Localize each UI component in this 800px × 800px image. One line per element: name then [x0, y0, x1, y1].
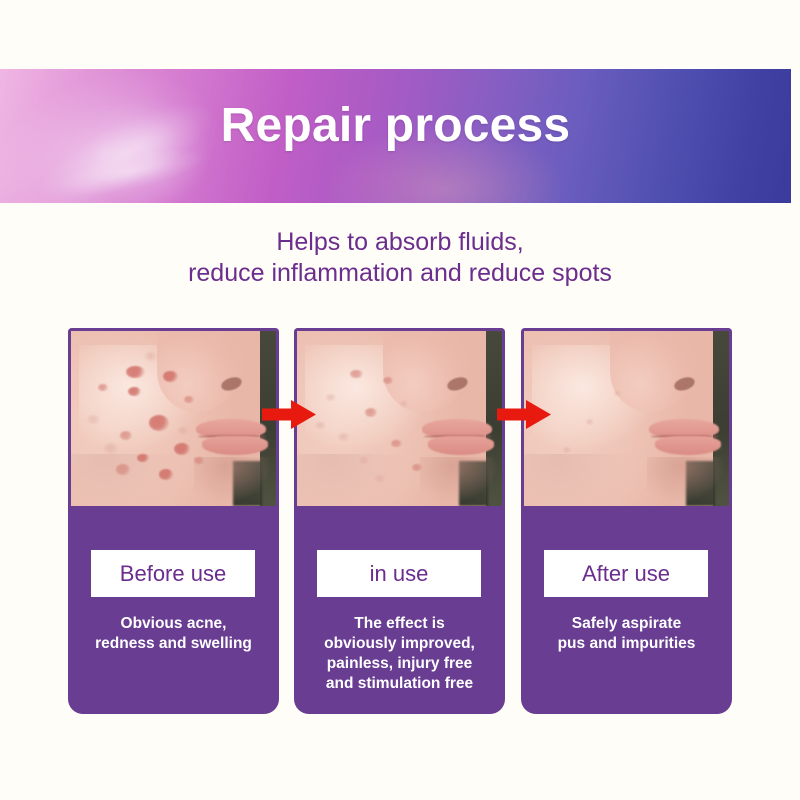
step-label: After use: [582, 563, 670, 585]
acne-spot: [391, 440, 401, 447]
header-banner: Repair process: [0, 69, 791, 203]
acne-spot: [614, 391, 621, 396]
step-caption-line: Obvious acne,: [74, 614, 273, 634]
process-step-card: in use The effect is obviously improved,…: [294, 328, 505, 714]
step-label-box: in use: [317, 550, 481, 597]
process-step-card: After use Safely aspirate pus and impuri…: [521, 328, 732, 714]
acne-spot: [87, 415, 99, 424]
step-caption-line: and stimulation free: [300, 674, 499, 694]
acne-spot: [149, 415, 170, 431]
acne-spot: [563, 447, 571, 453]
acne-spot: [412, 464, 422, 471]
subtitle-line-2: reduce inflammation and reduce spots: [0, 258, 800, 289]
subtitle-line-1: Helps to absorb fluids,: [0, 227, 800, 258]
acne-spot: [159, 469, 173, 480]
after-photo: [524, 331, 729, 506]
step-caption-line: redness and swelling: [74, 634, 273, 654]
acne-spot: [128, 387, 140, 396]
page-title: Repair process: [0, 98, 791, 153]
process-steps: Before use Obvious acne, redness and swe…: [68, 328, 732, 716]
acne-spot: [315, 422, 325, 429]
in-use-photo-frame: [294, 328, 505, 509]
acne-spot: [126, 366, 144, 378]
acne-spot: [359, 457, 369, 464]
step-label: Before use: [120, 563, 226, 585]
process-step-card: Before use Obvious acne, redness and swe…: [68, 328, 279, 714]
step-caption-line: The effect is: [300, 614, 499, 634]
step-caption: Obvious acne, redness and swelling: [74, 614, 273, 654]
acne-spot: [120, 431, 132, 440]
acne-spot: [174, 443, 190, 455]
step-label-box: After use: [544, 550, 708, 597]
acne-spot: [400, 401, 408, 407]
in-use-photo: [297, 331, 502, 506]
arrow-right-icon: [262, 400, 316, 429]
step-caption-line: pus and impurities: [527, 634, 726, 654]
acne-spot: [350, 370, 362, 379]
step-label-box: Before use: [91, 550, 255, 597]
step-caption-line: Safely aspirate: [527, 614, 726, 634]
acne-spot: [184, 396, 194, 403]
step-caption: The effect is obviously improved, painle…: [300, 614, 499, 694]
step-caption: Safely aspirate pus and impurities: [527, 614, 726, 654]
step-caption-line: obviously improved,: [300, 634, 499, 654]
acne-spot: [365, 408, 377, 417]
acne-spot: [586, 419, 594, 425]
acne-spot: [375, 475, 385, 482]
acne-spot: [104, 443, 118, 454]
acne-spot: [137, 454, 149, 463]
acne-spot: [145, 352, 157, 361]
acne-spot: [383, 377, 393, 384]
acne-spot: [116, 464, 130, 475]
acne-spot: [326, 394, 336, 401]
arrow-right-icon: [497, 400, 551, 429]
step-caption-line: painless, injury free: [300, 654, 499, 674]
before-photo-frame: [68, 328, 279, 509]
acne-spot: [98, 384, 108, 392]
after-photo-frame: [521, 328, 732, 509]
subtitle: Helps to absorb fluids, reduce inflammat…: [0, 227, 800, 289]
before-photo: [71, 331, 276, 506]
acne-spot: [163, 371, 177, 382]
step-label: in use: [370, 563, 429, 585]
